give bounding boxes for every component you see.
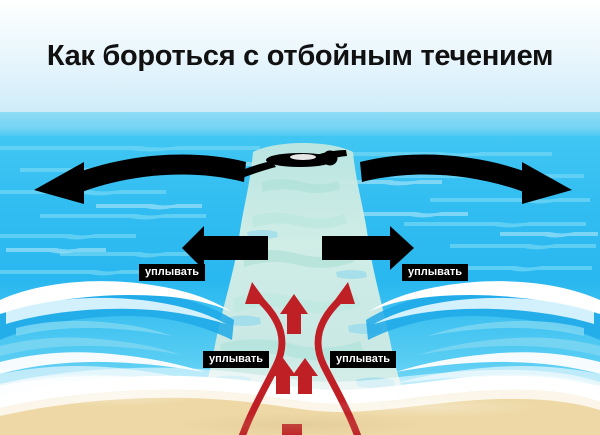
escape-arrowhead-top-right (522, 162, 572, 204)
page-title: Как бороться с отбойным течением (0, 40, 600, 73)
label-swim-away-top-left: уплывать (139, 264, 205, 281)
escape-arrow-top-right (360, 155, 542, 196)
header-banner: Как бороться с отбойным течением (0, 0, 600, 112)
escape-arrow-top-left (64, 155, 246, 196)
ocean-scene: уплывать уплывать уплывать уплывать RIP … (0, 112, 600, 435)
label-swim-away-mid-right: уплывать (330, 351, 396, 368)
sand-shading (0, 373, 600, 435)
rip-current-poster: Как бороться с отбойным течением (0, 0, 600, 435)
label-swim-away-mid-left: уплывать (203, 351, 269, 368)
label-swim-away-top-right: уплывать (402, 264, 468, 281)
